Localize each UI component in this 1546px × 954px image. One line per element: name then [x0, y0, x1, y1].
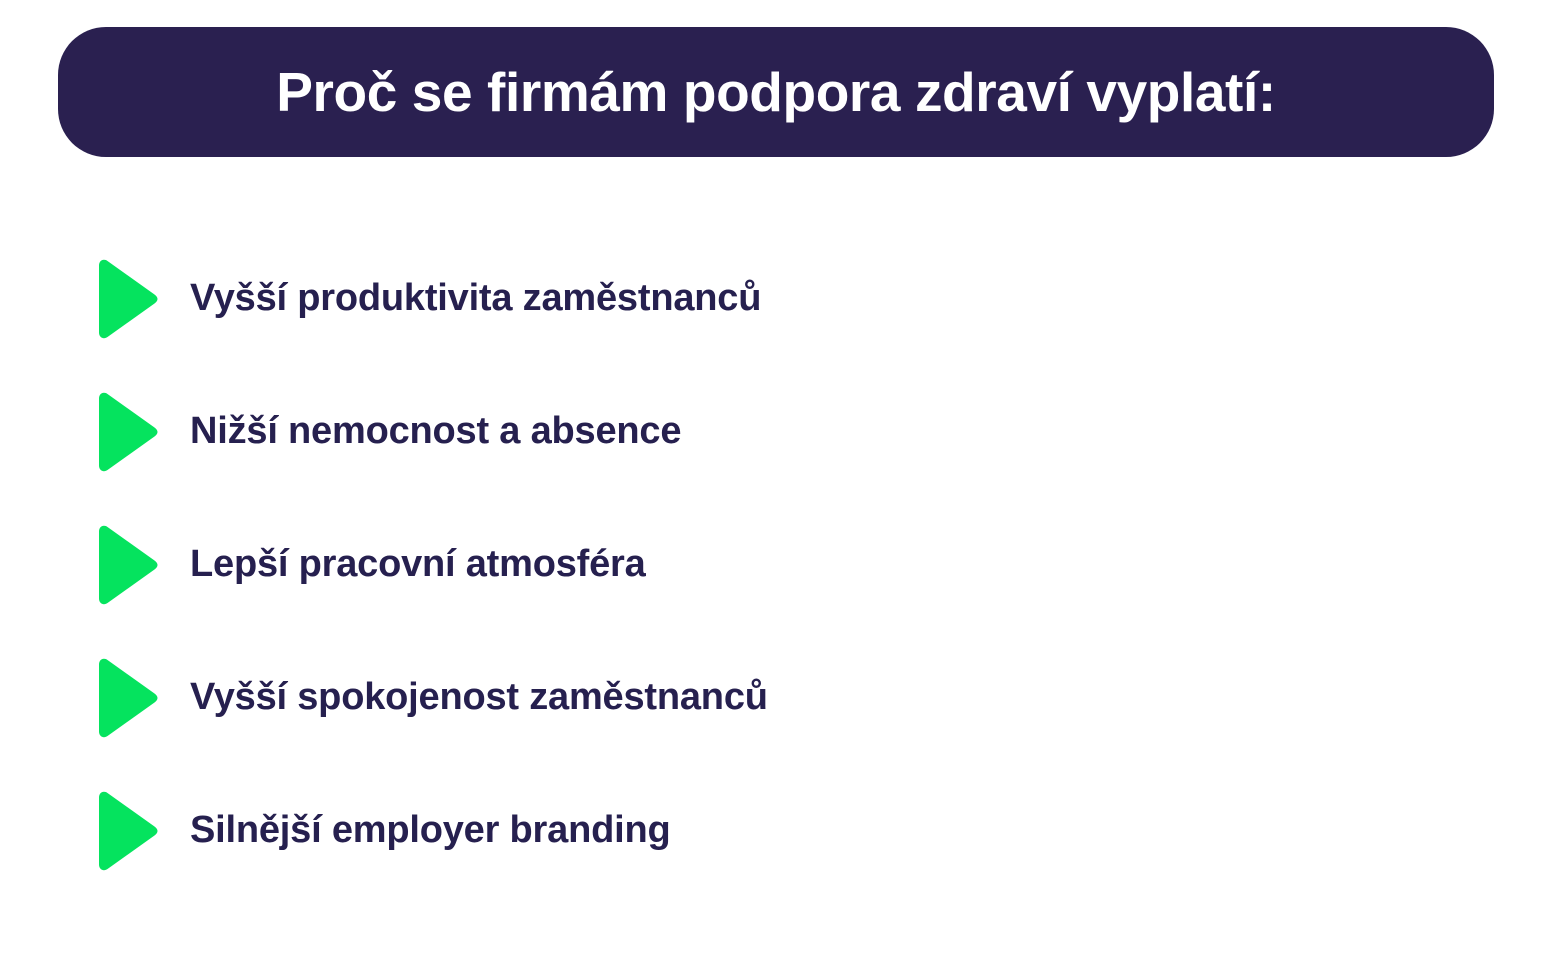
list-item: Vyšší produktivita zaměstnanců [0, 232, 1546, 365]
play-triangle-icon [92, 658, 160, 738]
list-item-label: Vyšší produktivita zaměstnanců [190, 277, 761, 321]
list-item: Lepší pracovní atmosféra [0, 498, 1546, 631]
benefits-list: Vyšší produktivita zaměstnanců Nižší nem… [0, 232, 1546, 897]
list-item: Vyšší spokojenost zaměstnanců [0, 631, 1546, 764]
list-item-label: Vyšší spokojenost zaměstnanců [190, 676, 768, 720]
list-item-label: Silnější employer branding [190, 809, 670, 853]
play-triangle-icon [92, 525, 160, 605]
page-title: Proč se firmám podpora zdraví vyplatí: [276, 62, 1276, 123]
play-triangle-icon [92, 392, 160, 472]
slide-canvas: Proč se firmám podpora zdraví vyplatí: V… [0, 0, 1546, 954]
header-band: Proč se firmám podpora zdraví vyplatí: [58, 27, 1494, 157]
list-item: Nižší nemocnost a absence [0, 365, 1546, 498]
play-triangle-icon [92, 259, 160, 339]
list-item: Silnější employer branding [0, 764, 1546, 897]
list-item-label: Nižší nemocnost a absence [190, 410, 681, 454]
play-triangle-icon [92, 791, 160, 871]
list-item-label: Lepší pracovní atmosféra [190, 543, 646, 587]
